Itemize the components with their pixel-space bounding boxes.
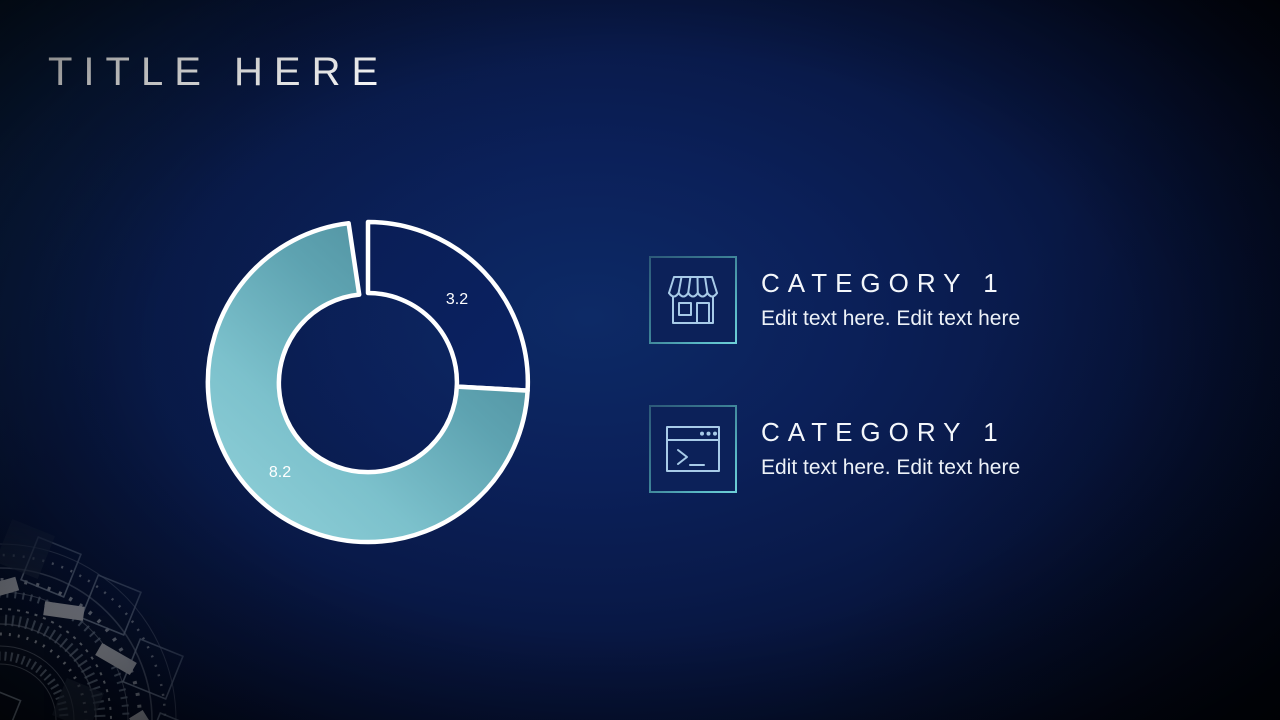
background-vignette: [0, 0, 1280, 720]
category-row-2[interactable]: CATEGORY 1 Edit text here. Edit text her…: [649, 405, 1020, 493]
storefront-icon: [664, 273, 722, 327]
background-sheen: [0, 0, 1280, 720]
category-text-2: CATEGORY 1 Edit text here. Edit text her…: [761, 416, 1020, 482]
icon-box-inner: [651, 258, 735, 342]
terminal-window-icon: [664, 424, 722, 474]
storefront-icon-box[interactable]: [649, 256, 737, 344]
category-title: CATEGORY 1: [761, 416, 1020, 449]
terminal-window-icon-box[interactable]: [649, 405, 737, 493]
hud-decoration: [0, 498, 222, 720]
donut-chart: 3.2 8.2: [200, 212, 540, 552]
page-title: TITLE HERE: [48, 52, 389, 92]
slide-canvas: TITLE HERE: [0, 0, 1280, 720]
category-row-1[interactable]: CATEGORY 1 Edit text here. Edit text her…: [649, 256, 1020, 344]
category-text-1: CATEGORY 1 Edit text here. Edit text her…: [761, 267, 1020, 333]
category-title: CATEGORY 1: [761, 267, 1020, 300]
icon-box-inner: [651, 407, 735, 491]
category-description: Edit text here. Edit text here: [761, 454, 1020, 482]
donut-label-teal: 8.2: [269, 464, 291, 481]
donut-label-navy: 3.2: [446, 291, 468, 308]
category-description: Edit text here. Edit text here: [761, 305, 1020, 333]
